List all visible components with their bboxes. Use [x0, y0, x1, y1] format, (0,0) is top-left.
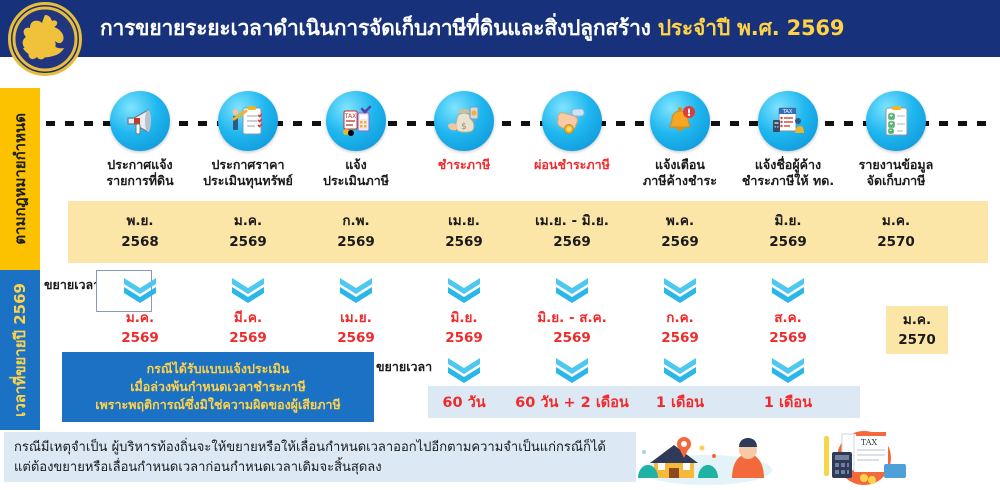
statutory-date-1-year: 2568: [121, 232, 159, 253]
statutory-date-7-year: 2569: [769, 232, 807, 253]
duration-value-4: 1 เดือน: [718, 386, 858, 418]
info-box-line-1: กรณีได้รับแบบแจ้งประเมิน: [147, 360, 290, 378]
tax-documents-illustration: TAX: [806, 430, 926, 490]
extension-date-3: เม.ย.2569: [296, 308, 416, 349]
statutory-date-8-month: ม.ค.: [882, 211, 910, 232]
header-bar: การขยายระยะเวลาดำเนินการจัดเก็บภาษีที่ดิ…: [0, 0, 1000, 57]
extension-date-3-year: 2569: [337, 328, 375, 348]
extension-date-4-year: 2569: [445, 328, 483, 348]
extension-yellow-box-year: 2570: [898, 330, 936, 350]
statutory-date-2-year: 2569: [229, 232, 267, 253]
statutory-date-4-month: เม.ย.: [448, 211, 480, 232]
extension-chevron-4: [444, 276, 484, 304]
page-title-main: การขยายระยะเวลาดำเนินการจัดเก็บภาษีที่ดิ…: [100, 12, 651, 45]
infographic-page: การขยายระยะเวลาดำเนินการจัดเก็บภาษีที่ดิ…: [0, 0, 1000, 486]
statutory-date-3-year: 2569: [337, 232, 375, 253]
sidebar-label-statutory: ตามกฎหมายกำหนด: [0, 88, 40, 270]
page-title-highlight: ประจำปี พ.ศ. 2569: [658, 12, 845, 45]
info-box: กรณีได้รับแบบแจ้งประเมิน เมื่อล่วงพ้นกำห…: [62, 352, 374, 422]
extension-date-7: ส.ค.2569: [728, 308, 848, 349]
svg-text:$: $: [461, 122, 467, 132]
statutory-date-5-month: เม.ย. - มิ.ย.: [535, 211, 609, 232]
footer-note: กรณีมีเหตุจำเป็น ผู้บริหารท้องถิ่นจะให้ข…: [4, 432, 636, 482]
extension-yellow-box-month: ม.ค.: [903, 310, 931, 330]
statutory-date-3-month: ก.พ.: [342, 211, 369, 232]
statutory-date-3: ก.พ.2569: [296, 201, 416, 263]
statutory-date-4-year: 2569: [445, 232, 483, 253]
statutory-date-6-month: พ.ค.: [666, 211, 694, 232]
extension-label-bottom: ขยายเวลา: [376, 357, 432, 377]
extension-date-4: มิ.ย.2569: [404, 308, 524, 349]
step-6-label: แจ้งเตือน ภาษีค้างชำระ: [643, 157, 717, 188]
step-6[interactable]: แจ้งเตือน ภาษีค้างชำระ: [626, 91, 734, 188]
bell-alert-icon: [650, 91, 710, 151]
duration-chevron-2: [552, 356, 592, 384]
extension-date-1-year: 2569: [121, 328, 159, 348]
sidebar-label-statutory-text: ตามกฎหมายกำหนด: [8, 113, 32, 245]
step-4-label: ชำระภาษี: [438, 157, 490, 173]
statutory-date-1: พ.ย.2568: [80, 201, 200, 263]
extension-chevron-1: [120, 276, 160, 304]
extension-chevron-2: [228, 276, 268, 304]
extension-date-6: ก.ค.2569: [620, 308, 740, 349]
hand-coin-icon: [542, 91, 602, 151]
info-box-line-3: เพราะพฤติการณ์ซึ่งมิใช่ความผิดของผู้เสีย…: [95, 396, 340, 414]
statutory-date-5-year: 2569: [553, 232, 591, 253]
extension-date-5-year: 2569: [553, 328, 591, 348]
megaphone-icon: [110, 91, 170, 151]
sidebar-label-extension: เวลาที่ขยายปี 2569: [0, 270, 40, 430]
extension-date-5-month: มิ.ย. - ส.ค.: [537, 308, 607, 328]
step-2[interactable]: ประกาศราคา ประเมินทุนทรัพย์: [194, 91, 302, 188]
footer-note-line-1: กรณีมีเหตุจำเป็น ผู้บริหารท้องถิ่นจะให้ข…: [14, 438, 626, 458]
step-4[interactable]: $ ชำระภาษี: [410, 91, 518, 173]
extension-date-3-month: เม.ย.: [340, 308, 372, 328]
extension-date-2-month: มี.ค.: [234, 308, 262, 328]
statutory-date-6: พ.ค.2569: [620, 201, 740, 263]
extension-date-7-month: ส.ค.: [774, 308, 802, 328]
extension-chevron-3: [336, 276, 376, 304]
extension-chevron-6: [660, 276, 700, 304]
extension-yellow-box: ม.ค. 2570: [886, 306, 948, 354]
extension-label-top: ขยายเวลา: [44, 275, 100, 295]
duration-chevron-3: [660, 356, 700, 384]
info-box-line-2: เมื่อล่วงพ้นกำหนดเวลาชำระภาษี: [130, 378, 305, 396]
step-2-label: ประกาศราคา ประเมินทุนทรัพย์: [203, 157, 293, 188]
duration-chevron-1: [444, 356, 484, 384]
statutory-date-7: มิ.ย.2569: [728, 201, 848, 263]
page-title: การขยายระยะเวลาดำเนินการจัดเก็บภาษีที่ดิ…: [100, 0, 992, 57]
statutory-date-2-month: ม.ค.: [234, 211, 262, 232]
step-7-label: แจ้งชื่อผู้ค้าง ชำระภาษีให้ ทด.: [742, 157, 834, 188]
svg-text:TAX: TAX: [782, 109, 793, 115]
extension-date-2: มี.ค.2569: [188, 308, 308, 349]
step-3-label: แจ้ง ประเมินภาษี: [323, 157, 389, 188]
svg-text:TAX: TAX: [861, 438, 878, 447]
step-5-label: ผ่อนชำระภาษี: [534, 157, 610, 173]
extension-date-6-year: 2569: [661, 328, 699, 348]
house-inspector-illustration: [636, 430, 786, 490]
extension-date-7-year: 2569: [769, 328, 807, 348]
statutory-date-8-year: 2570: [877, 232, 915, 253]
footer-note-line-2: แต่ต้องขยายหรือเลื่อนกำหนดเวลาก่อนกำหนดเ…: [14, 458, 626, 478]
garuda-emblem: [8, 2, 82, 76]
statutory-date-5: เม.ย. - มิ.ย.2569: [512, 201, 632, 263]
statutory-date-2: ม.ค.2569: [188, 201, 308, 263]
svg-text:TAX: TAX: [344, 113, 356, 120]
sidebar-label-extension-text: เวลาที่ขยายปี 2569: [8, 283, 32, 417]
statutory-date-1-month: พ.ย.: [126, 211, 153, 232]
step-5[interactable]: ผ่อนชำระภาษี: [518, 91, 626, 173]
extension-date-4-month: มิ.ย.: [450, 308, 477, 328]
statutory-date-4: เม.ย.2569: [404, 201, 524, 263]
step-1-label: ประกาศแจ้ง รายการที่ดิน: [106, 157, 173, 188]
money-bag-icon: $: [434, 91, 494, 151]
tax-calculator-icon: TAX: [326, 91, 386, 151]
statutory-date-7-month: มิ.ย.: [774, 211, 801, 232]
clipboard-pencil-icon: [218, 91, 278, 151]
extension-chevron-5: [552, 276, 592, 304]
step-3[interactable]: TAX แจ้ง ประเมินภาษี: [302, 91, 410, 188]
extension-date-5: มิ.ย. - ส.ค.2569: [512, 308, 632, 349]
extension-date-2-year: 2569: [229, 328, 267, 348]
statutory-date-8: ม.ค.2570: [836, 201, 956, 263]
step-7[interactable]: TAX แจ้งชื่อผู้ค้าง ชำระภาษีให้ ทด.: [734, 91, 842, 188]
step-8[interactable]: รายงานข้อมูล จัดเก็บภาษี: [842, 91, 950, 188]
extension-chevron-7: [768, 276, 808, 304]
step-1[interactable]: ประกาศแจ้ง รายการที่ดิน: [86, 91, 194, 188]
tax-list-icon: TAX: [758, 91, 818, 151]
statutory-date-6-year: 2569: [661, 232, 699, 253]
duration-chevron-4: [768, 356, 808, 384]
extension-date-6-month: ก.ค.: [666, 308, 693, 328]
checklist-icon: [866, 91, 926, 151]
extension-date-1: ม.ค.2569: [80, 308, 200, 349]
step-8-label: รายงานข้อมูล จัดเก็บภาษี: [859, 157, 934, 188]
